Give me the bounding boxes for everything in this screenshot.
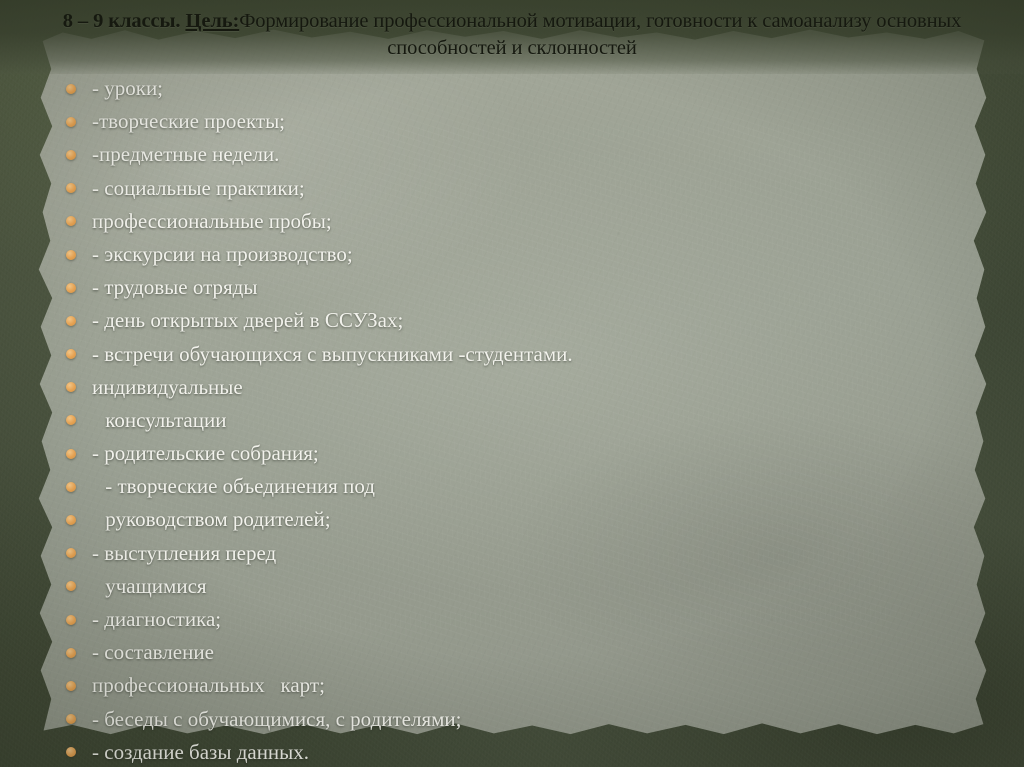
slide-title: 8 – 9 классы. Цель:Формирование професси… <box>60 8 964 62</box>
list-item-label: - творческие объединения под <box>100 470 375 503</box>
title-goal-text: Формирование профессиональной мотивации, <box>239 10 641 32</box>
list-item: профессиональных карт; <box>0 669 1024 702</box>
list-item-label: -творческие проекты; <box>92 105 285 138</box>
bullet-dot-icon <box>66 615 76 625</box>
list-item: индивидуальные <box>0 371 1024 404</box>
presentation-slide: 8 – 9 классы. Цель:Формирование професси… <box>0 0 1024 767</box>
list-item: - творческие объединения под <box>0 470 1024 503</box>
bullet-dot-icon <box>66 216 76 226</box>
list-item-label: - выступления перед <box>92 537 276 570</box>
bullet-dot-icon <box>66 382 76 392</box>
list-item: профессиональные пробы; <box>0 205 1024 238</box>
list-item: - родительские собрания; <box>0 437 1024 470</box>
list-item-label: индивидуальные <box>92 371 243 404</box>
bullet-dot-icon <box>66 316 76 326</box>
list-item-label: - родительские собрания; <box>92 437 319 470</box>
list-item: - день открытых дверей в ССУЗах; <box>0 304 1024 337</box>
list-item: - социальные практики; <box>0 172 1024 205</box>
bullet-dot-icon <box>66 714 76 724</box>
list-item: учащимися <box>0 570 1024 603</box>
bullet-dot-icon <box>66 183 76 193</box>
bullet-list: - уроки;-творческие проекты;-предметные … <box>0 72 1024 767</box>
list-item: консультации <box>0 404 1024 437</box>
list-item: - создание базы данных. <box>0 736 1024 767</box>
list-item-label: - экскурсии на производство; <box>92 238 353 271</box>
list-item-label: руководством родителей; <box>100 503 331 536</box>
list-item: - диагностика; <box>0 603 1024 636</box>
list-item-label: -предметные недели. <box>92 138 279 171</box>
bullet-dot-icon <box>66 747 76 757</box>
list-item-label: - беседы с обучающимися, с родителями; <box>92 703 462 736</box>
list-item-label: - трудовые отряды <box>92 271 257 304</box>
list-item: - составление <box>0 636 1024 669</box>
bullet-dot-icon <box>66 681 76 691</box>
bullet-dot-icon <box>66 150 76 160</box>
list-item: - уроки; <box>0 72 1024 105</box>
list-item-label: - уроки; <box>92 72 163 105</box>
bullet-dot-icon <box>66 482 76 492</box>
list-item-label: - диагностика; <box>92 603 221 636</box>
bullet-dot-icon <box>66 349 76 359</box>
list-item-label: - составление <box>92 636 214 669</box>
list-item: - трудовые отряды <box>0 271 1024 304</box>
list-item: - беседы с обучающимися, с родителями; <box>0 703 1024 736</box>
list-item: -творческие проекты; <box>0 105 1024 138</box>
bullet-dot-icon <box>66 84 76 94</box>
list-item-label: - день открытых дверей в ССУЗах; <box>92 304 403 337</box>
bullet-dot-icon <box>66 515 76 525</box>
list-item: -предметные недели. <box>0 138 1024 171</box>
title-grade-range: 8 – 9 классы. <box>63 10 181 32</box>
bullet-dot-icon <box>66 581 76 591</box>
bullet-dot-icon <box>66 250 76 260</box>
list-item: - встречи обучающихся с выпускниками -ст… <box>0 338 1024 371</box>
bullet-dot-icon <box>66 648 76 658</box>
list-item: руководством родителей; <box>0 503 1024 536</box>
list-item-label: профессиональных карт; <box>92 669 325 702</box>
list-item-label: - встречи обучающихся с выпускниками -ст… <box>92 338 573 371</box>
list-item-label: учащимися <box>100 570 207 603</box>
list-item: - экскурсии на производство; <box>0 238 1024 271</box>
list-item-label: - создание базы данных. <box>92 736 309 767</box>
bullet-dot-icon <box>66 449 76 459</box>
bullet-dot-icon <box>66 283 76 293</box>
title-goal-label: Цель: <box>185 10 239 32</box>
list-item-label: консультации <box>100 404 226 437</box>
slide-content: 8 – 9 классы. Цель:Формирование професси… <box>0 0 1024 767</box>
bullet-dot-icon <box>66 415 76 425</box>
bullet-dot-icon <box>66 548 76 558</box>
list-item-label: - социальные практики; <box>92 172 305 205</box>
bullet-dot-icon <box>66 117 76 127</box>
list-item-label: профессиональные пробы; <box>92 205 332 238</box>
list-item: - выступления перед <box>0 537 1024 570</box>
